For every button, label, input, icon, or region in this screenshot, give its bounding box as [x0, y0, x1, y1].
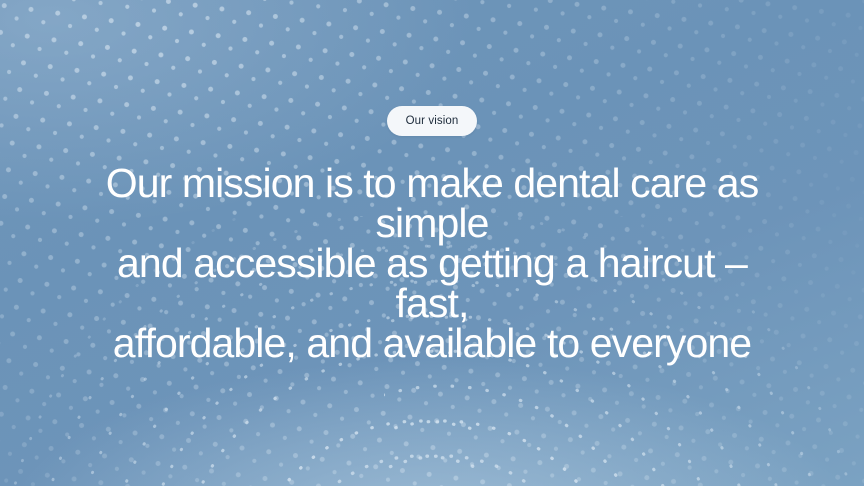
vision-content: Our vision Our mission is to make dental…	[0, 0, 864, 486]
section-badge: Our vision	[387, 106, 478, 136]
page-title: Our mission is to make dental care as si…	[82, 163, 782, 363]
headline-line-2: and accessible as getting a haircut – fa…	[82, 243, 782, 323]
headline-line-1: Our mission is to make dental care as si…	[82, 163, 782, 243]
vision-hero-section: Our vision Our mission is to make dental…	[0, 0, 864, 486]
headline-line-3: affordable, and available to everyone	[82, 323, 782, 363]
